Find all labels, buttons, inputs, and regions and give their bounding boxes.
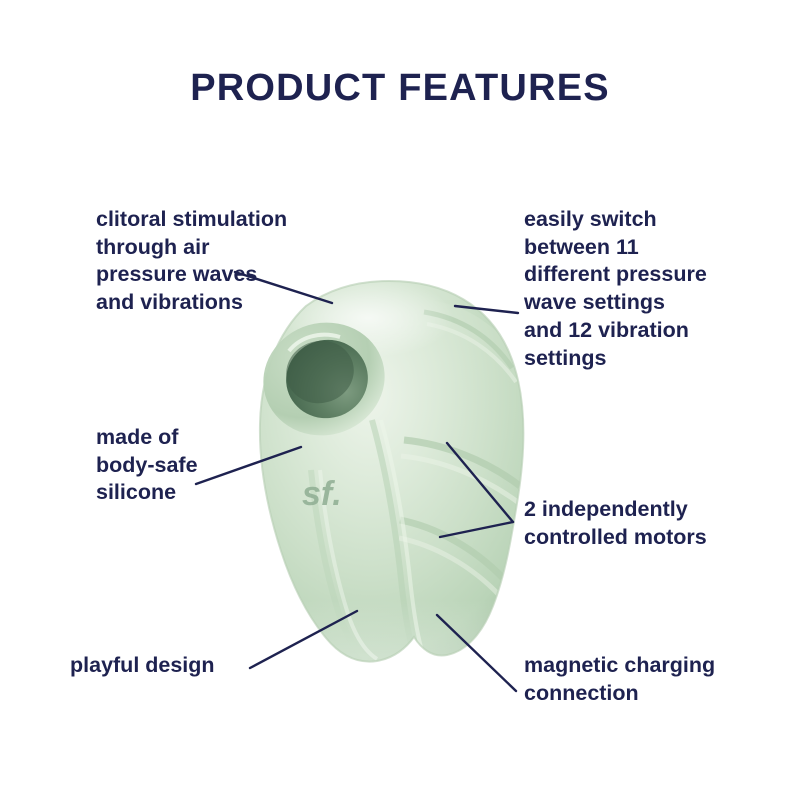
callout-playful-design: playful design [70,652,300,680]
opening-hole [277,330,377,428]
brand-logo: sf. [302,475,342,513]
callout-magnetic-charging: magnetic charging connection [524,652,774,707]
leader-independent-motors-lower [440,522,513,537]
opening-rim-highlight [289,335,340,351]
leader-independent-motors-upper [447,443,513,522]
device-center-crease [372,420,414,654]
opening-inner-shadow [279,333,361,411]
device-lobe-crease-left-highlight [320,470,377,659]
device-ridge-6 [399,538,500,596]
device-ridge-3 [404,440,520,486]
leader-pressure-wave-settings [455,306,518,313]
device-ridge-4 [401,456,519,503]
callout-independent-motors: 2 independently controlled motors [524,496,774,551]
leader-magnetic-charging [437,615,516,691]
device-center-crease-highlight [381,420,423,654]
callout-body-safe-silicone: made of body-safe silicone [96,424,296,507]
device-outline [260,281,524,662]
device-body-shape [260,281,524,662]
device-ridge-2 [427,324,516,382]
device-ridge-5 [400,520,503,578]
callout-clitoral-stimulation: clitoral stimulation through air pressur… [96,206,336,317]
page-title: PRODUCT FEATURES [0,68,800,110]
device-ridge-1 [424,312,512,368]
product-features-infographic: PRODUCT FEATURES [0,0,800,800]
callout-pressure-wave-settings: easily switch between 11 different press… [524,206,774,372]
device-bottom-sheen [270,600,530,690]
